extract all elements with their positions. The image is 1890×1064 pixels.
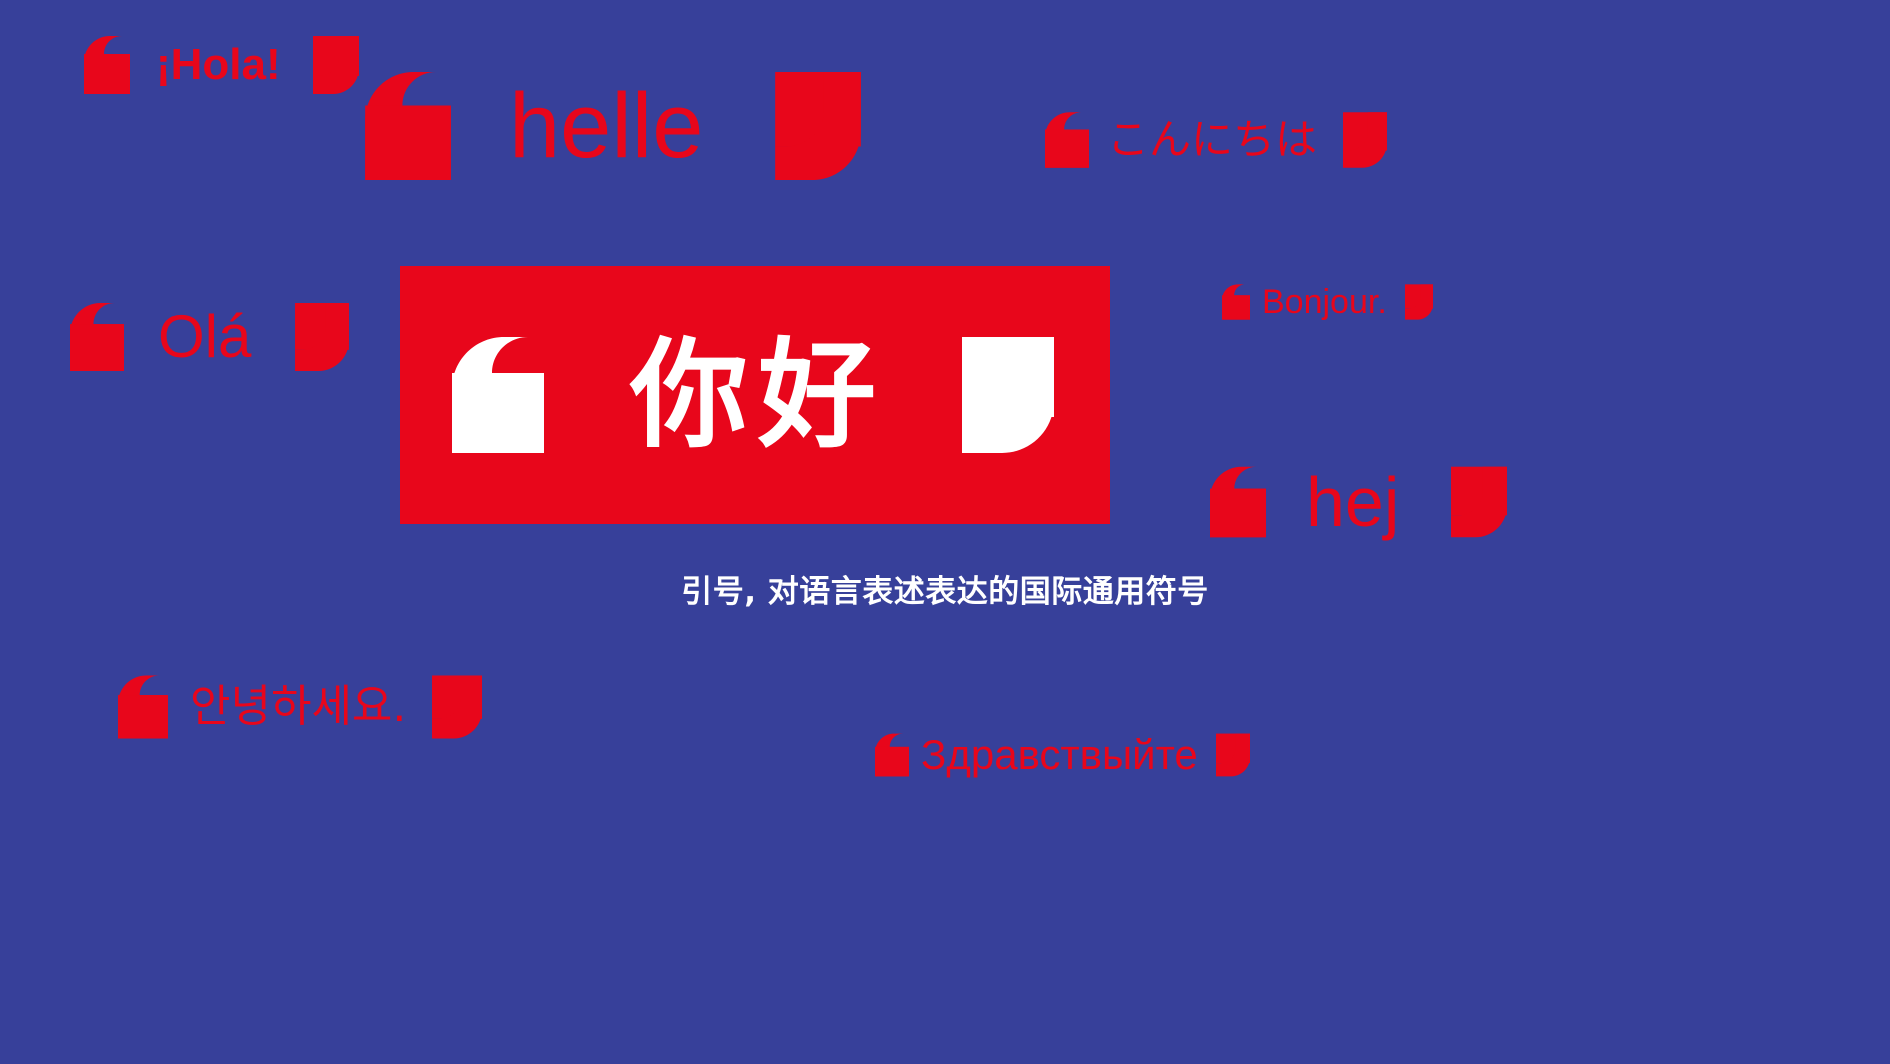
close-quote-icon: [1343, 112, 1387, 168]
close-quote-icon: [295, 303, 349, 371]
greeting-konnichiwa: こんにちは: [1045, 112, 1387, 168]
close-quote-icon: [1216, 733, 1250, 777]
hero-word: 你好: [630, 336, 886, 454]
greeting-label: 안녕하세요.: [190, 685, 406, 729]
greeting-bonjour: Bonjour.: [1222, 284, 1433, 320]
close-quote-icon: [432, 675, 482, 739]
close-quote-icon: [775, 72, 861, 180]
greeting-annyeong: 안녕하세요.: [118, 675, 482, 739]
close-quote-icon: [1405, 284, 1433, 320]
greeting-label: Olá: [158, 307, 251, 367]
greeting-label: Bonjour.: [1262, 285, 1387, 319]
poster-canvas: ¡Hola! helle: [0, 0, 1890, 1064]
greeting-ola: Olá: [70, 303, 349, 371]
greeting-label: ¡Hola!: [156, 43, 281, 87]
open-quote-icon: [1045, 112, 1089, 168]
greeting-zdravstvuyte: Здравствыйте: [875, 733, 1250, 777]
greeting-label: Здравствыйте: [921, 734, 1198, 776]
open-quote-icon: [84, 36, 130, 94]
greeting-hola: ¡Hola!: [84, 36, 359, 94]
greeting-label: hej: [1306, 467, 1399, 537]
open-quote-icon: [1210, 466, 1266, 538]
open-quote-icon: [452, 337, 544, 453]
greeting-helle: helle: [365, 72, 861, 180]
open-quote-icon: [365, 72, 451, 180]
close-quote-icon: [313, 36, 359, 94]
open-quote-icon: [1222, 284, 1250, 320]
greeting-label: こんにちは: [1107, 119, 1317, 161]
close-quote-icon: [962, 337, 1054, 453]
greeting-label: helle: [509, 80, 703, 172]
hero-banner: 你好: [400, 266, 1110, 524]
open-quote-icon: [70, 303, 124, 371]
open-quote-icon: [118, 675, 168, 739]
greeting-hej: hej: [1210, 466, 1507, 538]
close-quote-icon: [1451, 466, 1507, 538]
open-quote-icon: [875, 733, 909, 777]
page-subtitle: 引号, 对语言表述表达的国际通用符号: [0, 566, 1890, 611]
